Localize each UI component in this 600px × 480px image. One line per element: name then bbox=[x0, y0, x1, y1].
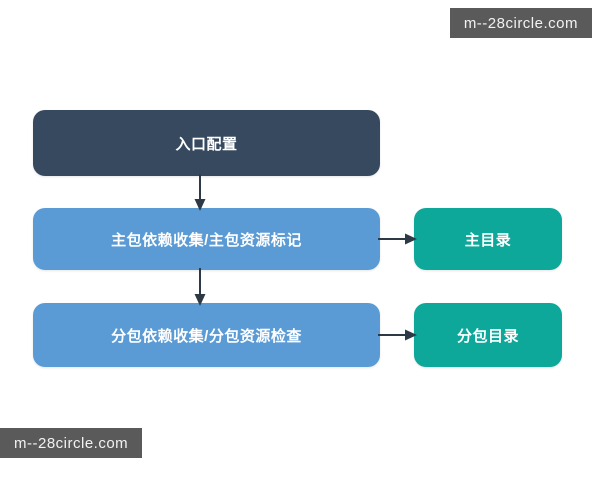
node-main-directory-label: 主目录 bbox=[465, 229, 512, 250]
node-main-package-collect[interactable]: 主包依赖收集/主包资源标记 bbox=[33, 208, 380, 270]
node-entry-config-label: 入口配置 bbox=[175, 133, 237, 154]
arrow-sub-package-to-sub-directory-icon bbox=[378, 324, 418, 346]
arrow-main-package-to-main-directory-icon bbox=[378, 228, 418, 250]
node-entry-config[interactable]: 入口配置 bbox=[33, 110, 380, 176]
node-sub-directory-label: 分包目录 bbox=[457, 325, 519, 346]
arrow-entry-to-main-package-icon bbox=[190, 174, 210, 212]
node-sub-package-collect-label: 分包依赖收集/分包资源检查 bbox=[111, 325, 302, 346]
node-sub-package-collect[interactable]: 分包依赖收集/分包资源检查 bbox=[33, 303, 380, 367]
arrow-main-package-to-sub-package-icon bbox=[190, 268, 210, 307]
watermark-top-right: m--28circle.com bbox=[450, 8, 592, 38]
watermark-bottom-left: m--28circle.com bbox=[0, 428, 142, 458]
node-main-package-collect-label: 主包依赖收集/主包资源标记 bbox=[111, 229, 302, 250]
node-sub-directory[interactable]: 分包目录 bbox=[414, 303, 562, 367]
node-main-directory[interactable]: 主目录 bbox=[414, 208, 562, 270]
diagram-canvas: m--28circle.com 入口配置 主包依赖收集/主包资源标记 分包依赖收… bbox=[0, 0, 600, 480]
